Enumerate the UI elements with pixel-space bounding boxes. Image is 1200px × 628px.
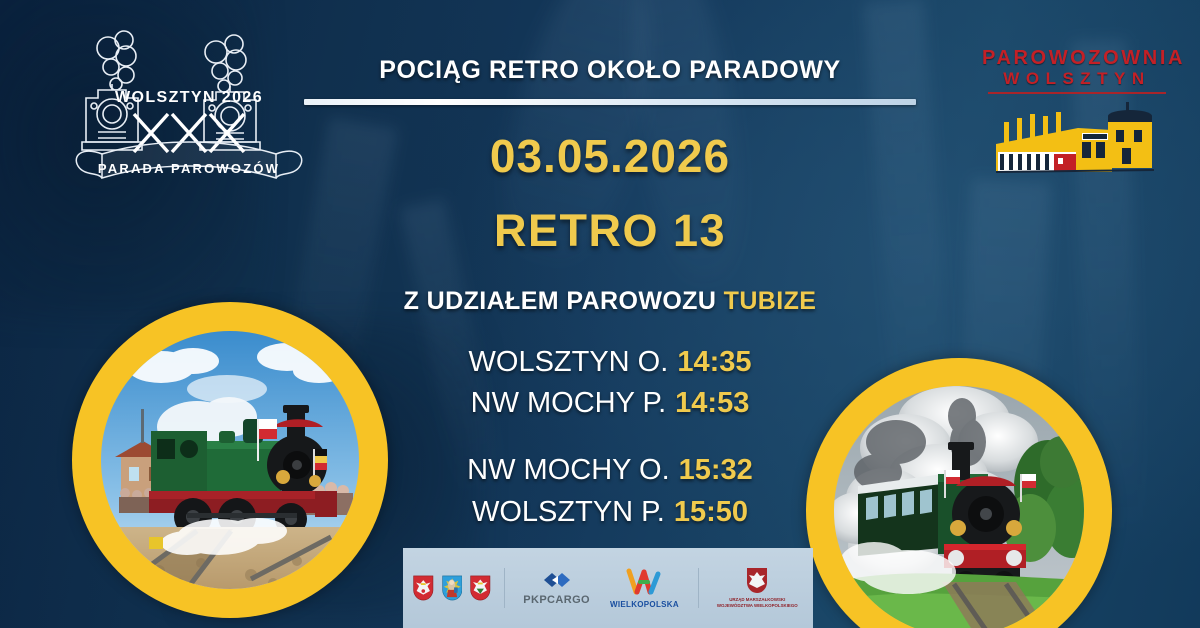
schedule-group-outbound: WOLSZTYN O.14:35 NW MOCHY P.14:53 <box>300 342 920 424</box>
poster-root: WOLSZTYN 2026 PARADA PAROWOZÓW PAROWOZOW… <box>0 0 1200 628</box>
pkp-cargo-logo: PKPCARGO <box>523 570 590 606</box>
roundhouse-logo-line2: WOLSZTYN <box>982 68 1172 90</box>
roundhouse-logo-line1: PAROWOZOWNIA <box>982 48 1172 68</box>
locomotive-name-text: TUBIZE <box>724 287 817 315</box>
roundhouse-building-icon <box>982 100 1172 188</box>
wielkopolska-logo: WIELKOPOLSKA <box>610 568 679 609</box>
schedule-time: 14:35 <box>677 346 751 378</box>
parade-logo: WOLSZTYN 2026 PARADA PAROWOZÓW <box>64 26 314 198</box>
logo-year-text: WOLSZTYN 2026 <box>115 89 263 106</box>
sponsor-divider-2 <box>698 568 699 608</box>
sponsor-divider <box>504 568 505 608</box>
water-tower <box>1108 102 1152 168</box>
roundhouse-logo: PAROWOZOWNIA WOLSZTYN <box>982 48 1172 198</box>
coat-of-arms-wolsztyn-icon <box>442 567 463 609</box>
smoke-puff-left <box>97 31 136 90</box>
urzad-marszalkowski-icon <box>746 567 768 594</box>
urzad-marszalkowski-label: URZĄD MARSZAŁKOWSKI WOJEWÓDZTWA WIELKOPO… <box>716 597 799 609</box>
schedule-row: WOLSZTYN O.14:35 <box>300 342 920 383</box>
logo-banner-text: PARADA PAROWOZÓW <box>98 161 280 176</box>
roundhouse-logo-rule <box>988 92 1166 94</box>
smoke-puff-right <box>205 35 246 92</box>
schedule-row: NW MOCHY P.14:53 <box>300 383 920 424</box>
photo-left-frame <box>72 302 388 618</box>
photo-right <box>834 386 1084 628</box>
coat-of-arms-wielkopolska-icon <box>413 567 434 609</box>
locomotive-line: Z UDZIAŁEM PAROWOZU TUBIZE <box>300 287 920 316</box>
schedule-station: WOLSZTYN O. <box>469 346 669 378</box>
event-date: 03.05.2026 <box>300 129 920 183</box>
sponsor-bar: PKPCARGO WIELKOPOLSKA <box>403 548 813 628</box>
schedule-station: WOLSZTYN P. <box>472 496 665 528</box>
coat-of-arms-powiat-icon <box>470 567 491 609</box>
schedule-station: NW MOCHY O. <box>467 454 669 486</box>
locomotive-prefix-text: Z UDZIAŁEM PAROWOZU <box>404 287 717 315</box>
photo-left <box>101 331 359 589</box>
wielkopolska-icon <box>624 568 664 596</box>
wielkopolska-label: WIELKOPOLSKA <box>610 600 679 609</box>
schedule-time: 15:50 <box>674 496 748 528</box>
train-name: RETRO 13 <box>300 205 920 257</box>
urzad-marszalkowski-logo: URZĄD MARSZAŁKOWSKI WOJEWÓDZTWA WIELKOPO… <box>716 567 799 609</box>
pkp-cargo-label: PKPCARGO <box>523 594 590 606</box>
schedule-time: 15:32 <box>679 454 753 486</box>
stored-locomotives <box>998 152 1076 172</box>
schedule-station: NW MOCHY P. <box>471 387 667 419</box>
title-divider <box>304 99 916 105</box>
pkp-cargo-icon <box>540 570 574 590</box>
page-title: POCIĄG RETRO OKOŁO PARADOWY <box>300 56 920 85</box>
schedule-time: 14:53 <box>675 387 749 419</box>
